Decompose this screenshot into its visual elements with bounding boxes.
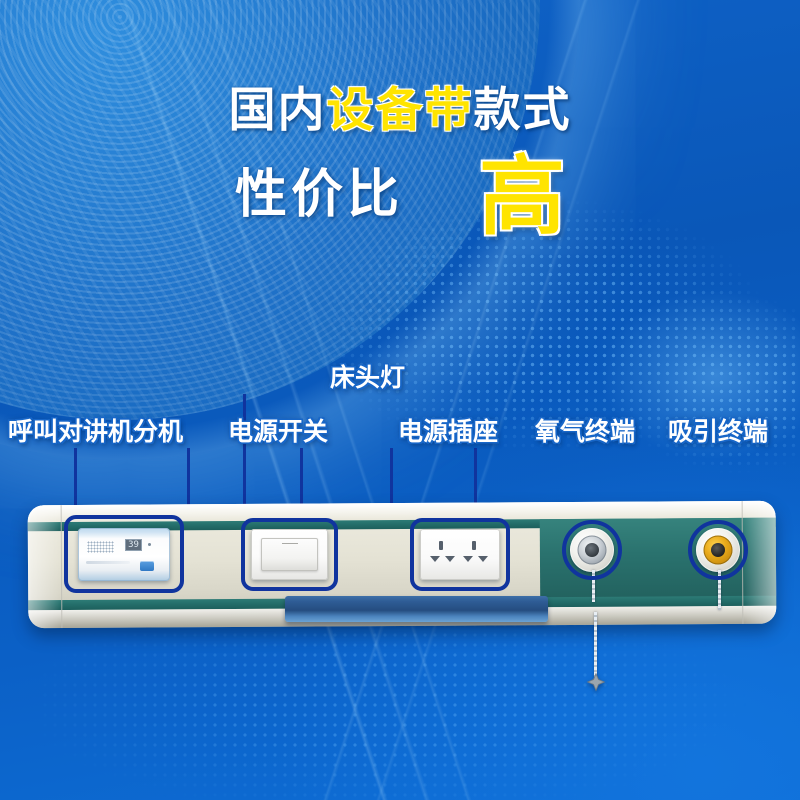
promo-image-root: 国内设备带款式 性价比高 呼叫对讲机分机 电源开关 床头灯 电源插座 氧气终端 … <box>0 0 800 800</box>
highlight-box-power-socket <box>410 518 510 591</box>
highlight-box-intercom <box>64 515 184 593</box>
highlight-circle-suction <box>688 520 748 580</box>
highlight-circle-oxygen <box>562 520 622 580</box>
hook-chain <box>594 612 597 677</box>
highlight-box-power-switch <box>241 518 338 591</box>
bed-head-unit: 39 <box>0 0 800 800</box>
cross-hook-icon <box>586 672 606 692</box>
equipment-rail <box>285 596 548 622</box>
panel-end-cap-right <box>742 501 777 624</box>
panel-end-cap-left <box>28 505 63 628</box>
